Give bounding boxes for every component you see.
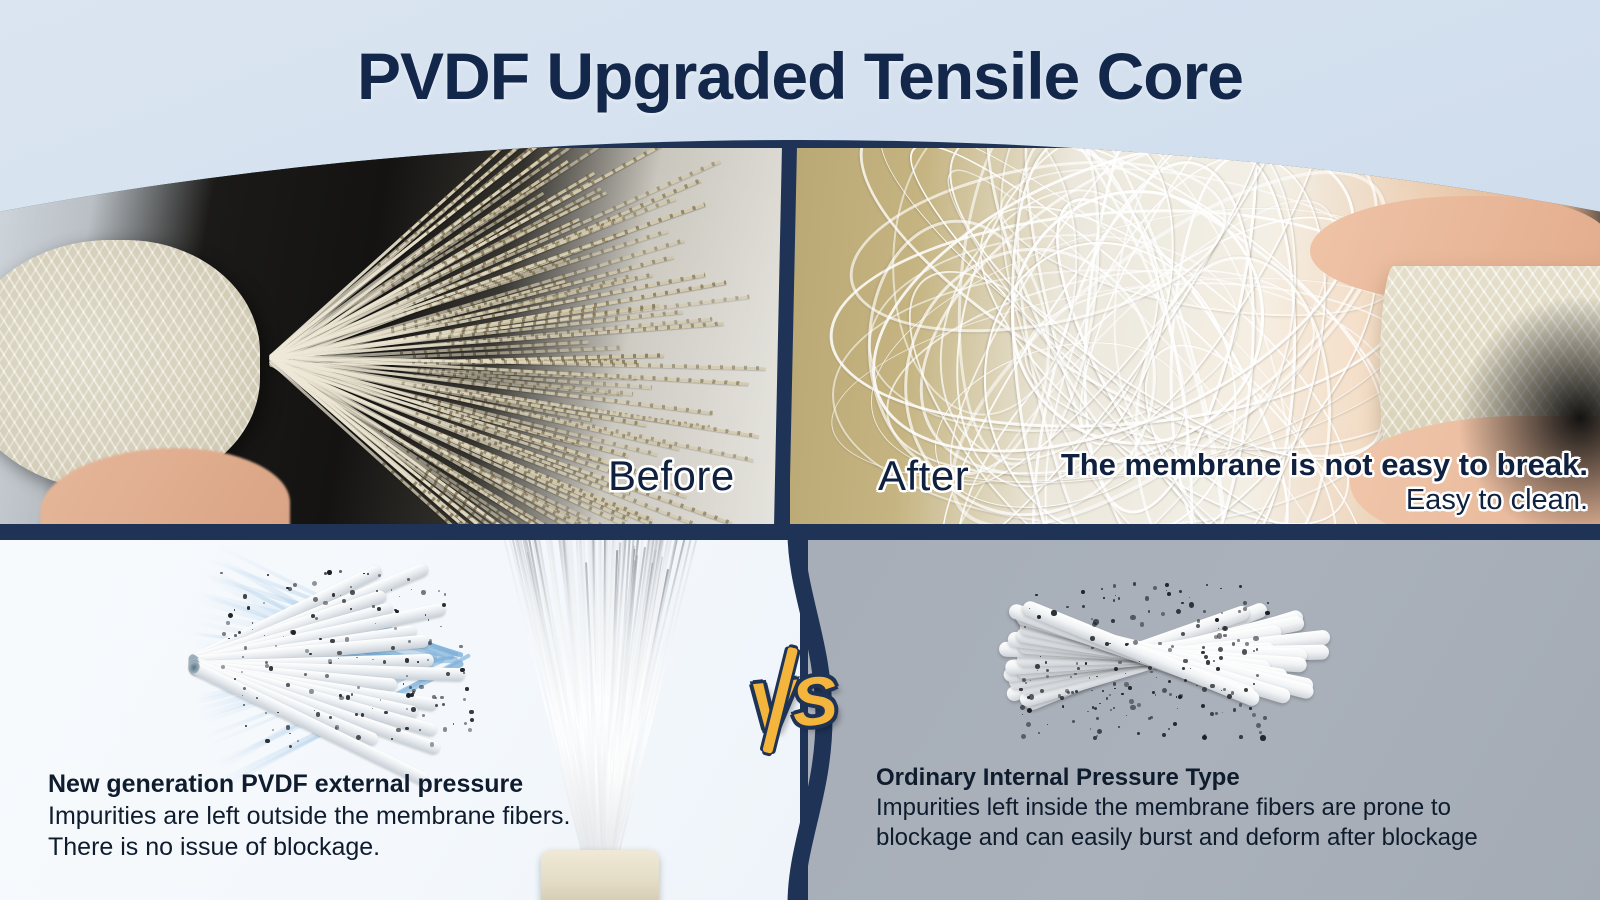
page-title: PVDF Upgraded Tensile Core — [0, 38, 1600, 114]
after-claim-block: The membrane is not easy to break. Easy … — [888, 448, 1588, 517]
impurity-specks-graphic — [40, 548, 460, 768]
impurity-specks-graphic — [998, 566, 1328, 746]
external-pressure-heading: New generation PVDF external pressure — [48, 768, 688, 801]
after-claim-line-1: The membrane is not easy to break. — [888, 448, 1588, 483]
after-claim-line-2: Easy to clean. — [888, 483, 1588, 517]
internal-pressure-heading: Ordinary Internal Pressure Type — [876, 762, 1576, 793]
infographic-root: PVDF Upgraded Tensile Core — [0, 0, 1600, 900]
internal-pressure-diagram — [998, 566, 1328, 746]
internal-pressure-caption: Ordinary Internal Pressure Type Impuriti… — [876, 762, 1576, 854]
external-pressure-diagram — [40, 548, 460, 768]
internal-pressure-body-1: Impurities left inside the membrane fibe… — [876, 793, 1576, 823]
internal-pressure-body-2: blockage and can easily burst and deform… — [876, 823, 1576, 853]
versus-badge: VS — [746, 661, 838, 747]
external-pressure-body-2: There is no issue of blockage. — [48, 832, 688, 864]
before-label: Before — [608, 452, 735, 500]
versus-label: VS — [746, 662, 838, 746]
external-pressure-caption: New generation PVDF external pressure Im… — [48, 768, 688, 864]
external-pressure-body-1: Impurities are left outside the membrane… — [48, 801, 688, 833]
